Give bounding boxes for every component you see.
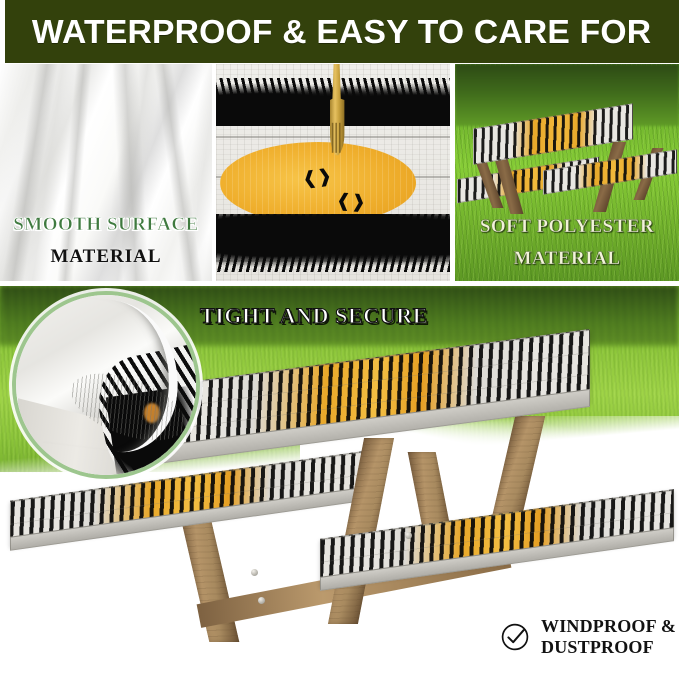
feature-panel-row: SMOOTH SURFACE MATERIAL ❰❱ ❰❱ xyxy=(0,64,679,281)
hero-section: TIGHT AND SECURE xyxy=(0,286,679,679)
panel-caption-secondary: MATERIAL xyxy=(0,246,212,268)
bolt-icon xyxy=(405,532,412,539)
bolt-icon xyxy=(251,569,258,576)
fork-icon xyxy=(324,64,348,188)
bolt-icon xyxy=(258,597,265,604)
product-infographic: WATERPROOF & EASY TO CARE FOR SMOOTH SUR… xyxy=(0,0,679,679)
badge-line-2: DUSTPROOF xyxy=(541,637,676,658)
panel-caption-secondary: MATERIAL xyxy=(455,248,679,270)
panel-caption-primary: SMOOTH SURFACE xyxy=(0,214,212,236)
panel-caption-primary: SOFT POLYESTER xyxy=(455,216,679,238)
forest-silhouette-bottom xyxy=(216,214,450,272)
panel-smooth-surface: SMOOTH SURFACE MATERIAL xyxy=(0,64,212,281)
header-banner: WATERPROOF & EASY TO CARE FOR xyxy=(0,0,679,63)
banner-title: WATERPROOF & EASY TO CARE FOR xyxy=(32,13,651,51)
badge-line-1: WINDPROOF & xyxy=(541,616,676,637)
check-circle-icon xyxy=(500,622,530,652)
panel-soft-polyester: SOFT POLYESTER MATERIAL xyxy=(455,64,679,281)
windproof-badge: WINDPROOF & DUSTPROOF xyxy=(500,616,676,658)
elastic-corner-inset xyxy=(12,291,200,479)
badge-text: WINDPROOF & DUSTPROOF xyxy=(541,616,676,658)
bird-silhouette-icon: ❰❱ xyxy=(335,191,366,211)
panel-print-detail: ❰❱ ❰❱ xyxy=(216,64,450,281)
